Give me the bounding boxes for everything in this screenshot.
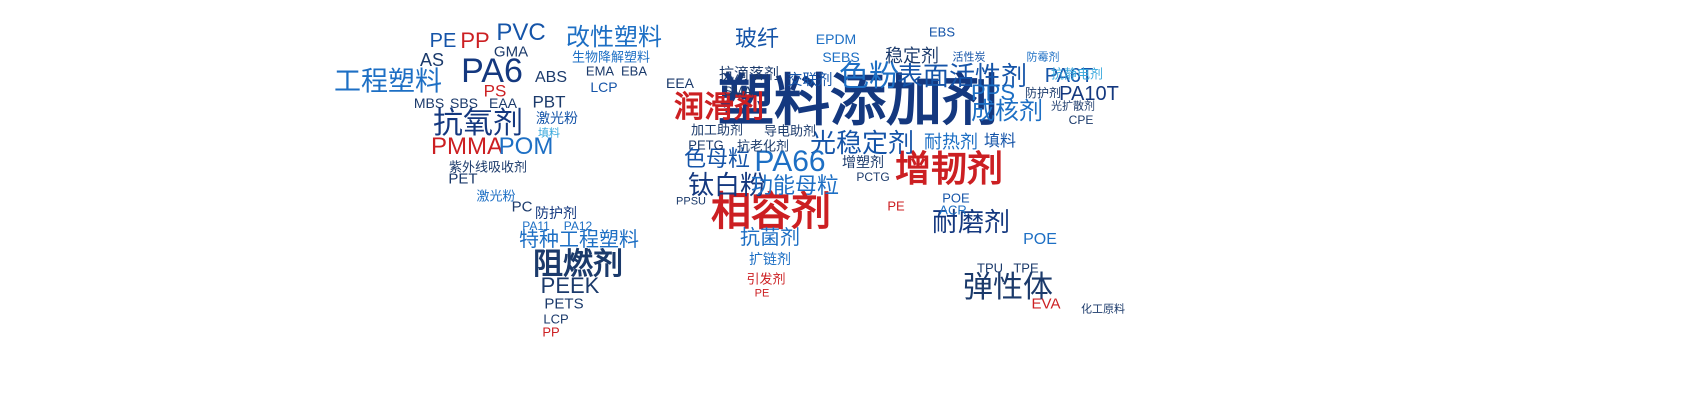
- cloud-word[interactable]: 活性炭: [953, 53, 986, 64]
- cloud-word[interactable]: EBS: [929, 26, 955, 39]
- cloud-word[interactable]: PP: [542, 326, 559, 339]
- cloud-word[interactable]: 光扩散剂: [1051, 102, 1095, 113]
- cloud-word[interactable]: CPE: [1069, 114, 1094, 126]
- cloud-word[interactable]: PVC: [496, 21, 545, 45]
- cloud-word[interactable]: 扩链剂: [749, 252, 791, 266]
- cloud-word[interactable]: GMA: [494, 45, 528, 60]
- cloud-word[interactable]: 导电助剂: [764, 125, 816, 138]
- cloud-word[interactable]: 抗静电剂: [1051, 68, 1103, 81]
- cloud-word[interactable]: 填料: [984, 134, 1016, 150]
- cloud-word[interactable]: 激光粉: [476, 190, 515, 203]
- cloud-word[interactable]: 增塑剂: [842, 155, 884, 169]
- cloud-word[interactable]: EAA: [489, 96, 517, 110]
- cloud-word[interactable]: LCP: [590, 80, 617, 94]
- cloud-word[interactable]: 生物降解塑料: [572, 51, 650, 64]
- cloud-word[interactable]: PEEK: [541, 275, 600, 297]
- cloud-word[interactable]: EVA: [1032, 297, 1061, 312]
- cloud-word[interactable]: 色粉: [839, 62, 899, 92]
- cloud-word[interactable]: PETS: [544, 297, 583, 312]
- cloud-word[interactable]: 特种工程塑料: [519, 230, 639, 250]
- cloud-word[interactable]: PCTG: [856, 171, 889, 183]
- cloud-word[interactable]: 光稳定剂: [810, 130, 914, 156]
- cloud-word[interactable]: MBS: [414, 96, 444, 110]
- cloud-word[interactable]: SEBS: [822, 50, 859, 64]
- cloud-word[interactable]: PE: [430, 31, 457, 51]
- cloud-word[interactable]: PA12: [564, 220, 592, 232]
- cloud-word[interactable]: 抗老化剂: [737, 140, 789, 153]
- cloud-word[interactable]: SBS: [450, 96, 478, 110]
- cloud-word[interactable]: EBA: [621, 65, 647, 78]
- cloud-word[interactable]: 稳定剂: [885, 47, 939, 65]
- cloud-word[interactable]: PPSU: [676, 197, 706, 208]
- cloud-word[interactable]: 防霉剂: [1027, 53, 1060, 64]
- cloud-word[interactable]: EPDM: [816, 32, 856, 46]
- cloud-word[interactable]: PC: [512, 200, 533, 215]
- cloud-word[interactable]: TPE: [1013, 262, 1038, 275]
- cloud-word[interactable]: PE: [755, 289, 770, 300]
- cloud-word[interactable]: 防护剂: [535, 206, 577, 220]
- cloud-word[interactable]: PMMA: [431, 135, 503, 159]
- cloud-word[interactable]: ABS: [535, 70, 567, 86]
- cloud-word[interactable]: 引发剂: [746, 273, 785, 286]
- cloud-word[interactable]: PETG: [688, 139, 723, 152]
- cloud-word[interactable]: SMA: [724, 85, 752, 98]
- cloud-word[interactable]: EEA: [666, 76, 694, 90]
- cloud-word[interactable]: 改性塑料: [566, 26, 662, 50]
- cloud-word[interactable]: PE: [887, 200, 904, 213]
- cloud-word[interactable]: PPS: [971, 82, 1015, 104]
- cloud-word[interactable]: 防护剂: [1025, 87, 1061, 99]
- cloud-word[interactable]: ACR: [939, 204, 966, 217]
- cloud-word[interactable]: 激光粉: [536, 111, 578, 125]
- word-cloud-canvas: 塑料添加剂相容剂增韧剂润滑剂阻燃剂色粉表面活性剂光稳定剂工程塑料抗氧剂PA6PA…: [0, 0, 1707, 400]
- cloud-word[interactable]: AS: [420, 51, 444, 69]
- cloud-word[interactable]: 耐热剂: [924, 133, 978, 151]
- cloud-word[interactable]: 化工原料: [1081, 305, 1125, 316]
- cloud-word[interactable]: PBT: [532, 94, 565, 111]
- cloud-word[interactable]: 功能母粒: [751, 175, 839, 197]
- cloud-word[interactable]: 交联剂: [787, 73, 832, 88]
- cloud-word[interactable]: 填料: [538, 129, 560, 140]
- cloud-word[interactable]: PET: [448, 172, 477, 187]
- cloud-word[interactable]: 玻纤: [735, 28, 779, 50]
- cloud-word[interactable]: 工程塑料: [334, 69, 442, 96]
- cloud-word[interactable]: PP: [460, 30, 489, 52]
- cloud-word[interactable]: EMA: [586, 65, 614, 78]
- cloud-word[interactable]: POE: [1023, 232, 1057, 248]
- cloud-word[interactable]: 加工助剂: [691, 124, 743, 137]
- cloud-word[interactable]: PA11: [522, 220, 550, 232]
- cloud-word[interactable]: 抗滴落剂: [719, 67, 779, 82]
- cloud-word[interactable]: 抗菌剂: [740, 228, 800, 248]
- cloud-word[interactable]: TPU: [977, 262, 1003, 275]
